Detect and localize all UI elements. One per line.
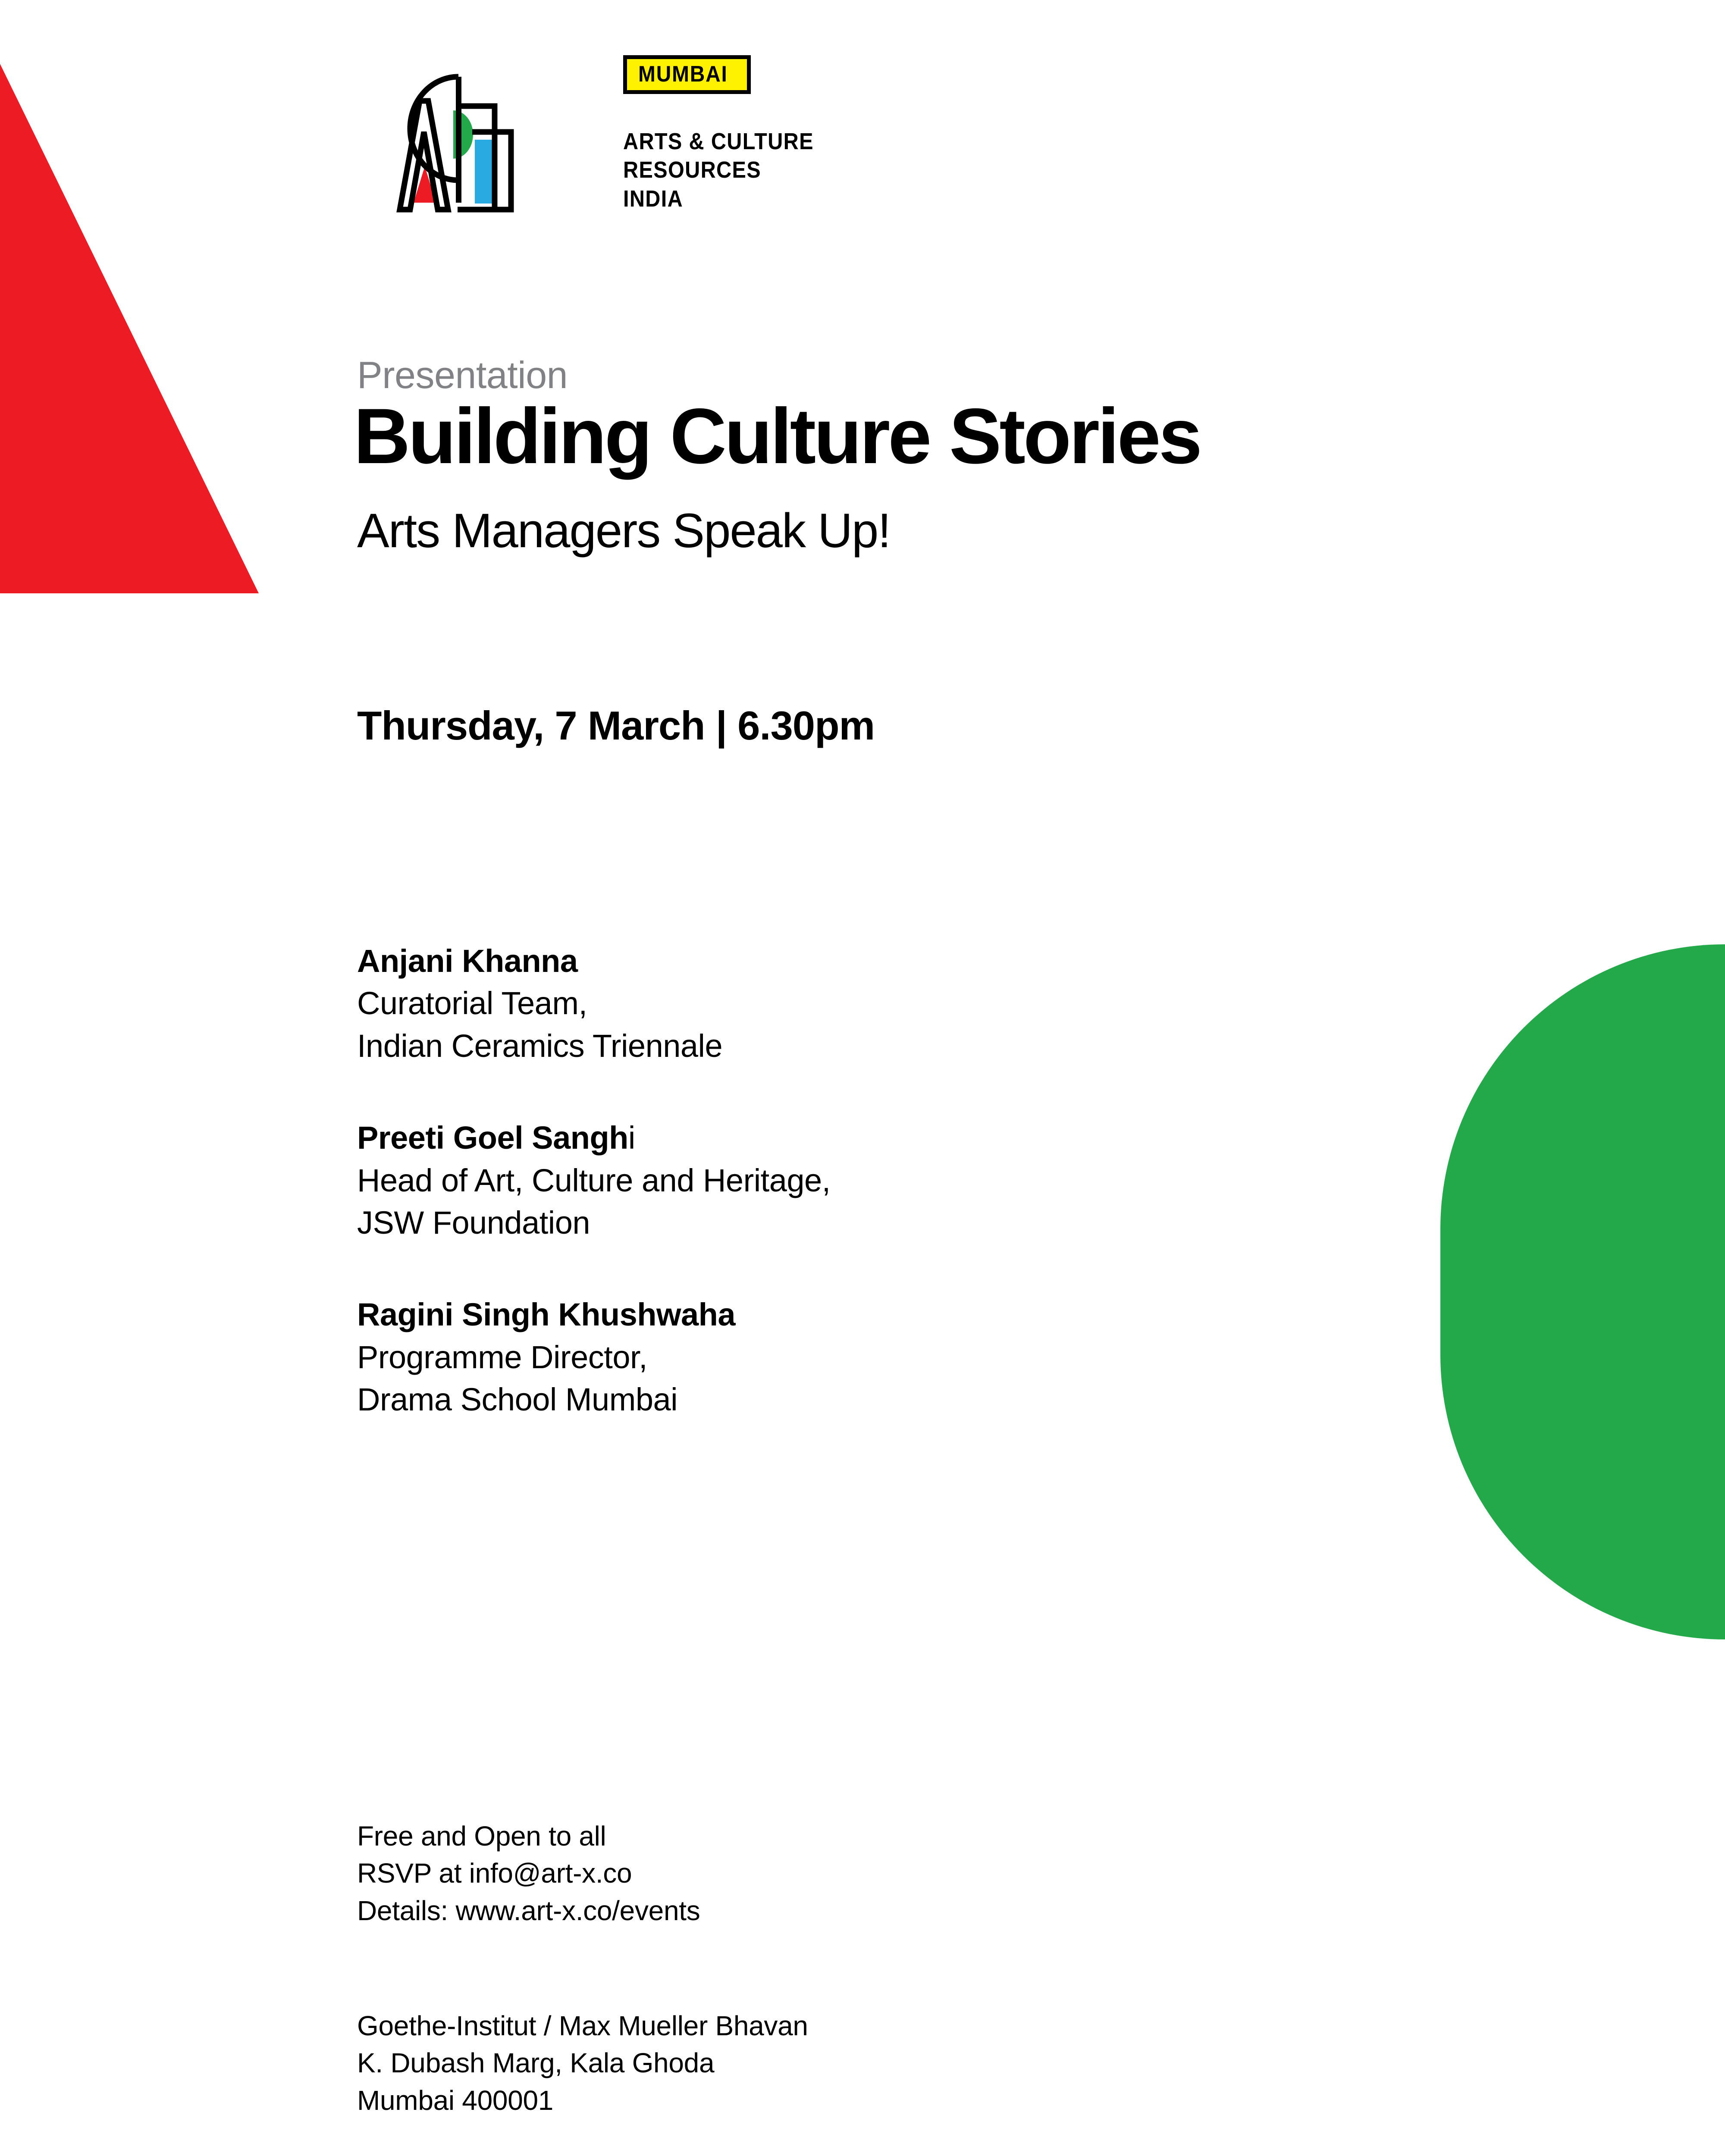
acri-logo-line-2: RESOURCES [623,156,814,184]
speaker-name-thin: i [628,1120,635,1156]
speaker-name: Ragini Singh Khushwaha [357,1294,1392,1336]
speaker-role-line-1: Head of Art, Culture and Heritage, [357,1159,1392,1202]
venue-street: K. Dubash Marg, Kala Ghoda [357,2044,808,2081]
event-kicker: Presentation [357,356,568,394]
acri-logo: MUMBAI ARTS & CULTURE RESOURCES INDIA [369,47,908,220]
acri-logo-line-3: INDIA [623,185,814,213]
venue-city: Mumbai 400001 [357,2082,808,2119]
rsvp-details-url[interactable]: Details: www.art-x.co/events [357,1892,700,1929]
rsvp-email-line[interactable]: RSVP at info@art-x.co [357,1855,700,1892]
speaker-list: Anjani Khanna Curatorial Team, Indian Ce… [357,940,1392,1471]
speaker-item: Ragini Singh Khushwaha Programme Directo… [357,1294,1392,1421]
speaker-role-line-1: Programme Director, [357,1336,1392,1379]
red-triangle-decoration [0,64,259,593]
acri-logo-line-1: ARTS & CULTURE [623,127,814,156]
speaker-item: Preeti Goel Sanghi Head of Art, Culture … [357,1117,1392,1244]
speaker-item: Anjani Khanna Curatorial Team, Indian Ce… [357,940,1392,1067]
rsvp-block: Free and Open to all RSVP at info@art-x.… [357,1818,700,1929]
venue-name: Goethe-Institut / Max Mueller Bhavan [357,2007,808,2044]
acri-logo-mark-icon [369,60,589,216]
page-title: Building Culture Stories [354,397,1200,475]
green-semicircle-decoration [1440,944,1725,1639]
speaker-role-line-2: Indian Ceramics Triennale [357,1025,1392,1067]
acri-logo-wordmark: ARTS & CULTURE RESOURCES INDIA [623,127,835,213]
speaker-role-line-2: JSW Foundation [357,1202,1392,1244]
mumbai-badge: MUMBAI [623,55,751,94]
mumbai-badge-label: MUMBAI [638,63,728,85]
event-subtitle: Arts Managers Speak Up! [357,507,890,555]
speaker-name: Anjani Khanna [357,940,1392,982]
speaker-name-bold: Ragini Singh Khushwaha [357,1297,735,1332]
speaker-name: Preeti Goel Sanghi [357,1117,1392,1159]
event-datetime: Thursday, 7 March | 6.30pm [357,705,875,746]
speaker-role-line-2: Drama School Mumbai [357,1379,1392,1421]
rsvp-line-1: Free and Open to all [357,1818,700,1855]
speaker-role-line-1: Curatorial Team, [357,982,1392,1025]
venue-block: Goethe-Institut / Max Mueller Bhavan K. … [357,2007,808,2119]
speaker-name-bold: Anjani Khanna [357,943,578,979]
speaker-name-bold: Preeti Goel Sangh [357,1120,628,1156]
